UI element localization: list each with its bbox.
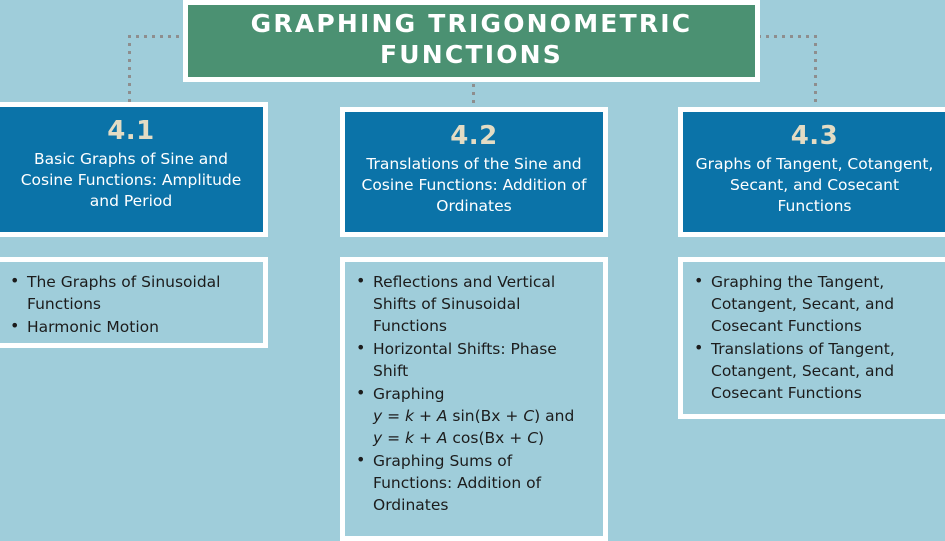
section-title-4-2: Translations of the Sine and Cosine Func… [357,154,591,217]
page-title: GRAPHING TRIGONOMETRIC FUNCTIONS [202,8,741,71]
topic-list-4-2: Reflections and Vertical Shifts of Sinus… [340,257,608,541]
topic-list-4-3-inner: Graphing the Tangent, Cotangent, Secant,… [683,262,945,414]
connector-left-horizontal [128,35,186,38]
topic-bullets-4-3: Graphing the Tangent, Cotangent, Secant,… [691,271,938,404]
section-header-4-2[interactable]: 4.2 Translations of the Sine and Cosine … [340,107,608,237]
list-item[interactable]: Horizontal Shifts: Phase Shift [353,338,595,382]
section-title-4-1: Basic Graphs of Sine and Cosine Function… [11,149,251,212]
section-header-4-3[interactable]: 4.3 Graphs of Tangent, Cotangent, Secant… [678,107,945,237]
topic-label: Translations of Tangent, Cotangent, Seca… [711,340,895,402]
connector-left-vertical [128,35,131,103]
chapter-title-inner: GRAPHING TRIGONOMETRIC FUNCTIONS [188,5,755,77]
connector-center-vertical [472,84,475,106]
connector-right-horizontal [758,35,816,38]
connector-right-vertical [814,35,817,103]
chapter-title-box: GRAPHING TRIGONOMETRIC FUNCTIONS [183,0,760,82]
section-number-4-2: 4.2 [357,122,591,152]
section-header-4-3-inner: 4.3 Graphs of Tangent, Cotangent, Secant… [683,112,945,232]
topic-list-4-2-inner: Reflections and Vertical Shifts of Sinus… [345,262,603,536]
topic-label: Harmonic Motion [27,318,159,336]
section-header-4-2-inner: 4.2 Translations of the Sine and Cosine … [345,112,603,232]
section-header-4-1-inner: 4.1 Basic Graphs of Sine and Cosine Func… [0,107,263,232]
topic-list-4-1-inner: The Graphs of Sinusoidal Functions Harmo… [0,262,263,343]
topic-label: Graphing [373,385,445,403]
list-item[interactable]: Translations of Tangent, Cotangent, Seca… [691,338,938,404]
section-number-4-3: 4.3 [695,122,934,152]
section-number-4-1: 4.1 [11,117,251,147]
list-item[interactable]: Harmonic Motion [7,316,255,338]
topic-bullets-4-2: Reflections and Vertical Shifts of Sinus… [353,271,595,516]
list-item[interactable]: Reflections and Vertical Shifts of Sinus… [353,271,595,337]
topic-list-4-1: The Graphs of Sinusoidal Functions Harmo… [0,257,268,348]
topic-label: Horizontal Shifts: Phase Shift [373,340,557,380]
formula-sine: y = k + A sin(Bx + C) and [373,405,595,427]
list-item[interactable]: Graphing Sums of Functions: Addition of … [353,450,595,516]
topic-label: Reflections and Vertical Shifts of Sinus… [373,273,555,335]
section-title-4-3: Graphs of Tangent, Cotangent, Secant, an… [695,154,934,217]
list-item-graphing[interactable]: Graphing y = k + A sin(Bx + C) and y = k… [353,383,595,449]
topic-label: Graphing the Tangent, Cotangent, Secant,… [711,273,894,335]
topic-label: Graphing Sums of Functions: Addition of … [373,452,541,514]
flowchart-canvas: GRAPHING TRIGONOMETRIC FUNCTIONS 4.1 Bas… [0,0,945,541]
topic-bullets-4-1: The Graphs of Sinusoidal Functions Harmo… [7,271,255,338]
topic-list-4-3: Graphing the Tangent, Cotangent, Secant,… [678,257,945,419]
formula-cosine: y = k + A cos(Bx + C) [373,427,595,449]
list-item[interactable]: Graphing the Tangent, Cotangent, Secant,… [691,271,938,337]
topic-label: The Graphs of Sinusoidal Functions [27,273,220,313]
list-item[interactable]: The Graphs of Sinusoidal Functions [7,271,255,315]
section-header-4-1[interactable]: 4.1 Basic Graphs of Sine and Cosine Func… [0,102,268,237]
